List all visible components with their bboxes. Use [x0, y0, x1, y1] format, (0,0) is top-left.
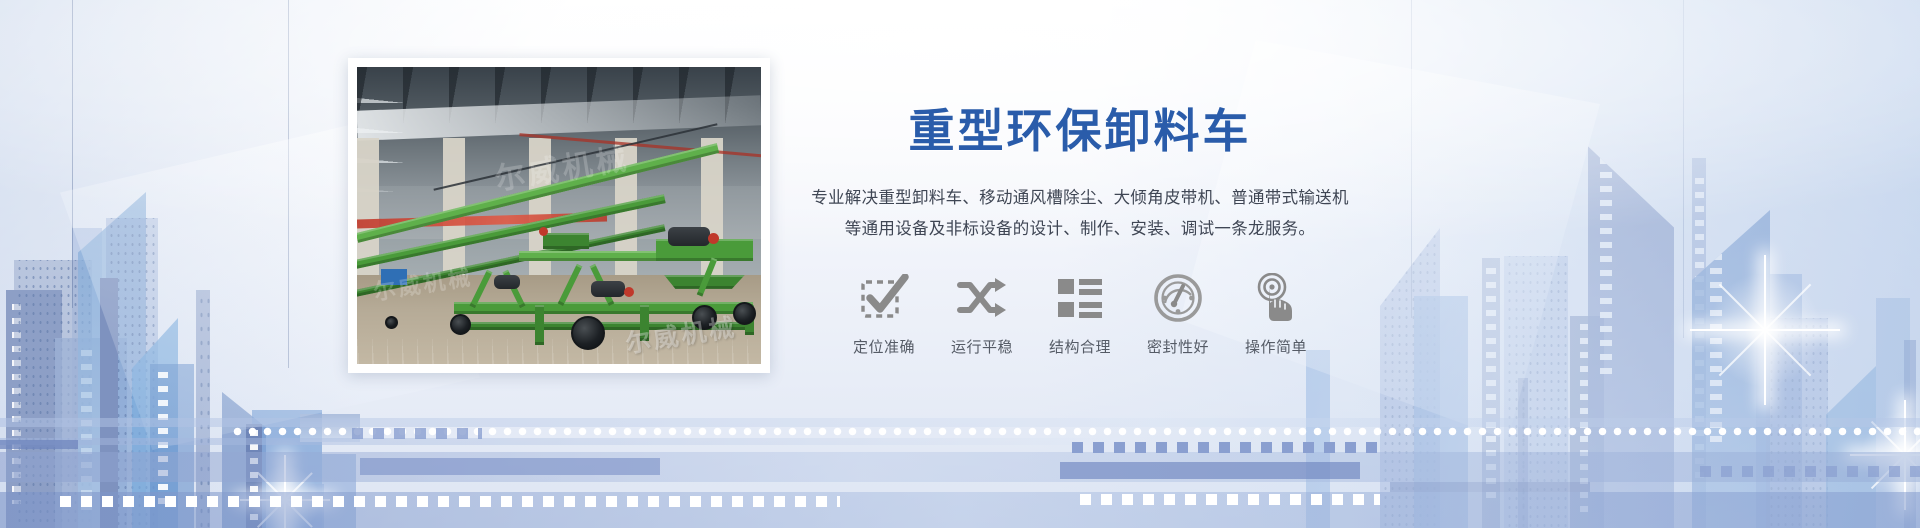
window-strip	[1580, 324, 1588, 514]
building	[1380, 228, 1440, 528]
square-row-blue	[1072, 442, 1382, 453]
window-strip	[1710, 254, 1722, 444]
flare-glow	[245, 460, 325, 528]
feature-list: 定位准确 运行平稳	[810, 270, 1350, 357]
building	[100, 278, 118, 528]
window-strip	[1600, 158, 1612, 378]
machine-wheel	[450, 314, 471, 335]
banner-title: 重型环保卸料车	[810, 104, 1350, 159]
horizontal-band	[0, 452, 1920, 482]
window-strip	[158, 372, 168, 512]
window-strip	[12, 304, 21, 504]
building	[78, 192, 146, 528]
gauge-dial-icon	[1153, 270, 1203, 326]
window-strip	[1486, 268, 1496, 502]
building	[106, 218, 158, 528]
flare-glow	[1855, 405, 1920, 505]
feature-label: 定位准确	[853, 336, 915, 357]
flare-ray	[1719, 284, 1812, 377]
window-dot-grid	[1504, 256, 1568, 528]
building	[1692, 210, 1770, 528]
building	[1518, 378, 1528, 528]
window-dot-grid	[1518, 378, 1528, 528]
shuffle-arrows-icon	[957, 270, 1007, 326]
machine-wheel	[571, 316, 605, 350]
feature-item-sealing[interactable]: 密封性好	[1129, 270, 1227, 357]
checkbox-check-icon	[859, 270, 909, 326]
building	[1504, 256, 1568, 528]
window-dot-grid	[1766, 318, 1828, 528]
building	[14, 260, 92, 528]
building	[1482, 258, 1500, 528]
building	[1766, 318, 1828, 528]
feature-label: 操作简单	[1245, 336, 1307, 357]
belt-pulley	[668, 227, 710, 246]
product-photo-card: 尔威机械 尔威机械 尔威机械	[348, 58, 770, 373]
feature-label: 密封性好	[1147, 336, 1209, 357]
square-row-blue	[1700, 466, 1920, 477]
building	[1588, 122, 1674, 528]
horizontal-band	[0, 438, 1120, 445]
window-strip	[81, 350, 92, 510]
support-leg	[535, 305, 544, 345]
horizontal-band	[0, 418, 1920, 427]
light-flare	[1690, 255, 1840, 405]
machine-wheel	[733, 302, 756, 325]
light-flare	[1850, 400, 1920, 510]
drive-motor	[543, 233, 589, 249]
light-flare	[240, 455, 330, 528]
roller-hub	[624, 287, 634, 297]
machine-wheel	[385, 316, 398, 329]
square-row	[1080, 494, 1380, 505]
square-row	[60, 496, 840, 507]
list-blocks-icon	[1057, 270, 1103, 326]
horizontal-band-accent	[1060, 462, 1360, 479]
belt-roller	[494, 275, 520, 289]
feature-item-structure[interactable]: 结构合理	[1031, 270, 1129, 357]
feature-item-simple-operation[interactable]: 操作简单	[1227, 270, 1325, 357]
building	[246, 424, 262, 528]
vertical-guide-line	[288, 0, 289, 368]
banner-content: 重型环保卸料车 专业解决重型卸料车、移动通风槽除尘、大倾角皮带机、普通带式输送机…	[810, 104, 1350, 357]
building	[196, 290, 210, 528]
horizontal-band-accent	[0, 440, 78, 449]
square-row-blue	[352, 428, 482, 439]
horizontal-band-accent	[360, 458, 660, 475]
vertical-guide-line	[72, 0, 73, 308]
feature-label: 结构合理	[1049, 336, 1111, 357]
hand-tap-icon	[1252, 270, 1300, 326]
building	[1876, 298, 1910, 528]
building	[1570, 316, 1604, 528]
building	[1826, 366, 1876, 528]
feature-item-positioning[interactable]: 定位准确	[835, 270, 933, 357]
building	[222, 392, 266, 528]
flare-ray	[1719, 284, 1812, 377]
building	[6, 290, 62, 528]
belt-roller	[591, 281, 625, 297]
window-dot-grid	[1380, 228, 1440, 528]
window-dot-grid	[106, 218, 158, 528]
building	[1756, 274, 1802, 528]
building	[1414, 296, 1468, 528]
vertical-guide-line	[1683, 0, 1684, 338]
feature-item-smooth-operation[interactable]: 运行平稳	[933, 270, 1031, 357]
window-dot-grid	[196, 290, 210, 528]
building	[72, 228, 102, 528]
dot-row	[230, 427, 1920, 436]
building	[322, 454, 356, 528]
vertical-guide-line	[1411, 0, 1412, 318]
feature-label: 运行平稳	[951, 336, 1013, 357]
flare-glow	[1700, 265, 1830, 395]
truss-diagonal	[558, 264, 583, 306]
hero-banner: 尔威机械 尔威机械 尔威机械 重型环保卸料车 专业解决重型卸料车、移动通风槽除尘…	[0, 0, 1920, 528]
window-strip	[250, 430, 258, 522]
product-photo: 尔威机械 尔威机械 尔威机械	[357, 67, 761, 364]
window-dot-grid	[14, 260, 92, 528]
banner-description: 专业解决重型卸料车、移动通风槽除尘、大倾角皮带机、普通带式输送机等通用设备及非标…	[810, 183, 1350, 244]
horizontal-band-accent	[1390, 482, 1590, 492]
